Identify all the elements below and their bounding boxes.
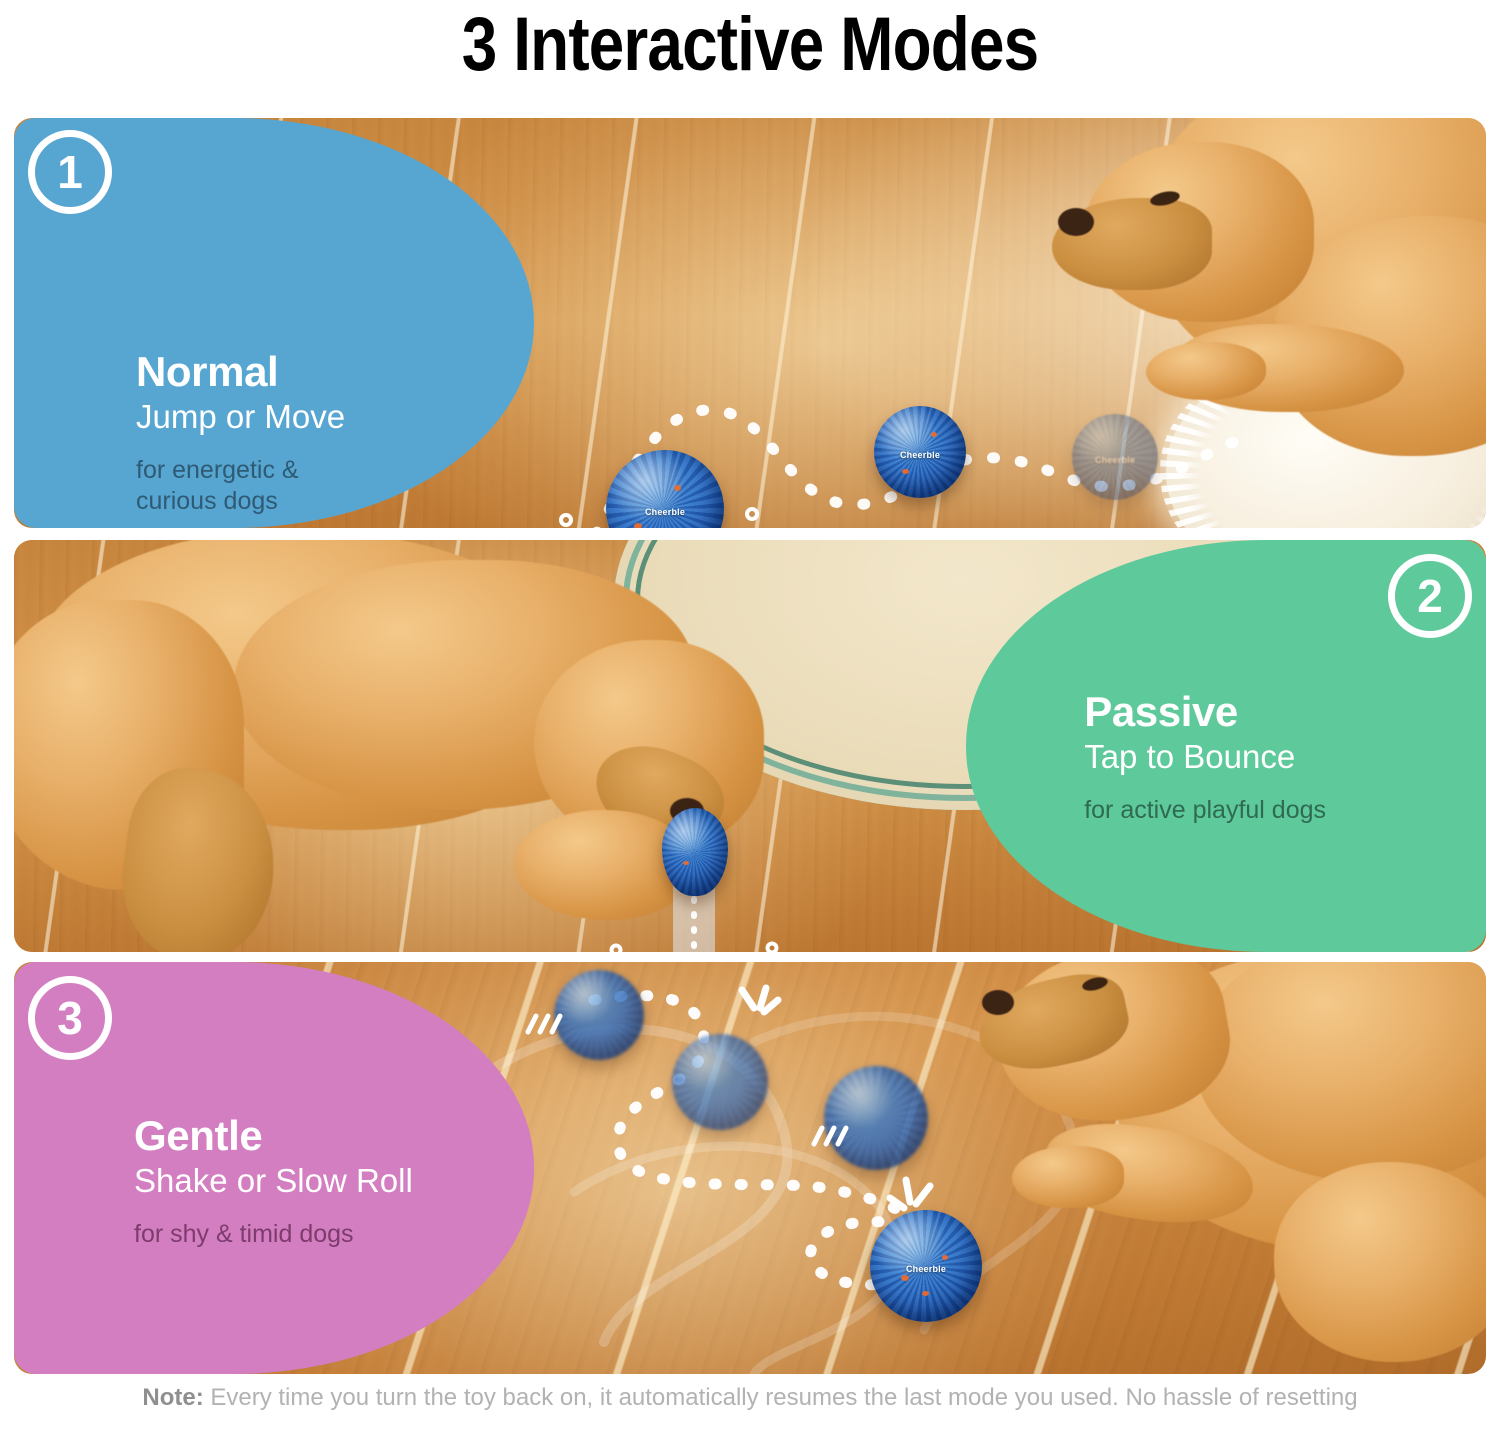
mode-1-title: Normal [136,350,345,394]
mode-1-note-line1: for energetic & [136,456,299,484]
footer-note-label: Note: [142,1384,203,1411]
mode-1-subtitle: Jump or Move [136,398,345,437]
mode-3-badge: 3 [28,976,112,1060]
mode-1-badge: 1 [28,130,112,214]
motion-swoosh-left [602,942,664,952]
ball-bouncing [662,808,728,896]
mode-row-passive: Passive Tap to Bounce for active playful… [14,540,1486,952]
ball-midair: Cheerble [874,406,966,498]
motion-swoosh-right [728,940,792,952]
mode-2-subtitle: Tap to Bounce [1084,738,1326,777]
impact-spark-1 [736,986,782,1022]
mode-2-title: Passive [1084,690,1326,734]
ball-logo: Cheerble [1072,455,1158,465]
mode-row-gentle: Cheerble [14,962,1486,1374]
impact-spark-2 [886,1178,934,1214]
motion-swoosh-left [552,510,622,528]
footer-note: Note: Every time you turn the toy back o… [0,1384,1500,1412]
ball-ghost: Cheerble [1072,414,1158,500]
mode-3-title: Gentle [134,1114,413,1158]
ball-roll-3 [824,1066,928,1170]
mode-3-note: for shy & timid dogs [134,1219,413,1251]
ball-logo: Cheerble [870,1264,982,1274]
mode-2-note: for active playful dogs [1084,795,1326,827]
page-title: 3 Interactive Modes [120,2,1380,88]
motion-swoosh-right [704,504,780,528]
mode-1-note-line2: curious dogs [136,487,278,515]
mode-3-subtitle: Shake or Slow Roll [134,1162,413,1201]
mode-2-badge: 2 [1388,554,1472,638]
ball-logo: Cheerble [874,450,966,460]
mode-row-normal: Cheerble Cheerble Cheerble [14,118,1486,528]
footer-note-text: Every time you turn the toy back on, it … [210,1384,1357,1411]
speed-chevrons-2 [812,1124,858,1150]
ball-roll-2 [672,1034,768,1130]
dog-photo-3 [974,962,1486,1374]
infographic-page: 3 Interactive Modes [0,0,1500,1430]
mode-3-text: Gentle Shake or Slow Roll for shy & timi… [134,1114,413,1250]
mode-1-text: Normal Jump or Move for energetic & curi… [136,350,345,518]
mode-2-text: Passive Tap to Bounce for active playful… [1084,690,1326,826]
mode-1-note: for energetic & curious dogs [136,455,345,518]
ball-roll-4: Cheerble [870,1210,982,1322]
